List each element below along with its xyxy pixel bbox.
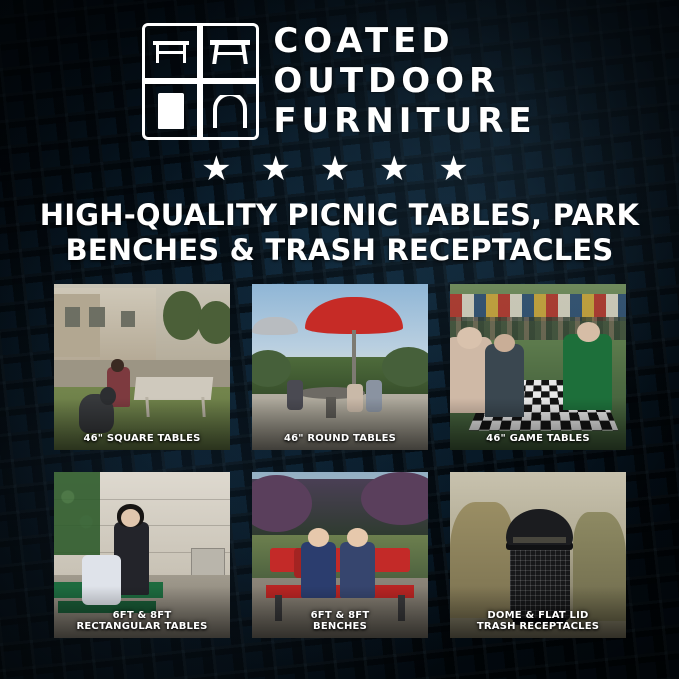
product-caption-rectangular-tables: 6FT & 8FT RECTANGULAR TABLES [54,610,230,632]
product-card-square-tables[interactable]: 46" SQUARE TABLES [54,284,230,450]
caption-line-2: BENCHES [256,621,424,632]
product-card-rectangular-tables[interactable]: 6FT & 8FT RECTANGULAR TABLES [54,472,230,638]
product-card-game-tables[interactable]: 46" GAME TABLES [450,284,626,450]
product-caption-game-tables: 46" GAME TABLES [450,433,626,444]
trash-can-icon [158,93,184,129]
product-caption-square-tables: 46" SQUARE TABLES [54,433,230,444]
poster-content: COATED OUTDOOR FURNITURE ★ ★ ★ ★ ★ HIGH-… [0,0,679,679]
headline-line-2: BENCHES & TRASH RECEPTACLES [34,233,645,268]
star-rating: ★ ★ ★ ★ ★ [0,152,679,186]
brand-logo: COATED OUTDOOR FURNITURE [0,22,679,141]
brand-name-line-2: OUTDOOR [273,62,536,101]
brand-name-line-1: COATED [273,22,536,61]
product-poster: COATED OUTDOOR FURNITURE ★ ★ ★ ★ ★ HIGH-… [0,0,679,679]
product-caption-trash-receptacles: DOME & FLAT LID TRASH RECEPTACLES [450,610,626,632]
dome-lid-icon [212,95,248,129]
caption-line-1: DOME & FLAT LID [454,610,622,621]
bench-icon [152,37,190,67]
product-card-round-tables[interactable]: 46" ROUND TABLES [252,284,428,450]
headline-line-1: HIGH-QUALITY PICNIC TABLES, PARK [34,198,645,233]
four-quadrant-furniture-logo-icon [142,23,259,140]
caption-line-2: TRASH RECEPTACLES [454,621,622,632]
brand-name: COATED OUTDOOR FURNITURE [273,22,536,141]
headline: HIGH-QUALITY PICNIC TABLES, PARK BENCHES… [0,198,679,269]
product-grid: 46" SQUARE TABLES [54,284,626,638]
caption-line-1: 46" GAME TABLES [454,433,622,444]
caption-line-1: 6FT & 8FT [58,610,226,621]
caption-line-1: 46" SQUARE TABLES [58,433,226,444]
product-card-trash-receptacles[interactable]: DOME & FLAT LID TRASH RECEPTACLES [450,472,626,638]
caption-line-1: 6FT & 8FT [256,610,424,621]
brand-name-line-3: FURNITURE [273,102,536,141]
picnic-table-icon [210,37,250,67]
caption-line-1: 46" ROUND TABLES [256,433,424,444]
product-card-benches[interactable]: 6FT & 8FT BENCHES [252,472,428,638]
product-caption-benches: 6FT & 8FT BENCHES [252,610,428,632]
caption-line-2: RECTANGULAR TABLES [58,621,226,632]
product-caption-round-tables: 46" ROUND TABLES [252,433,428,444]
